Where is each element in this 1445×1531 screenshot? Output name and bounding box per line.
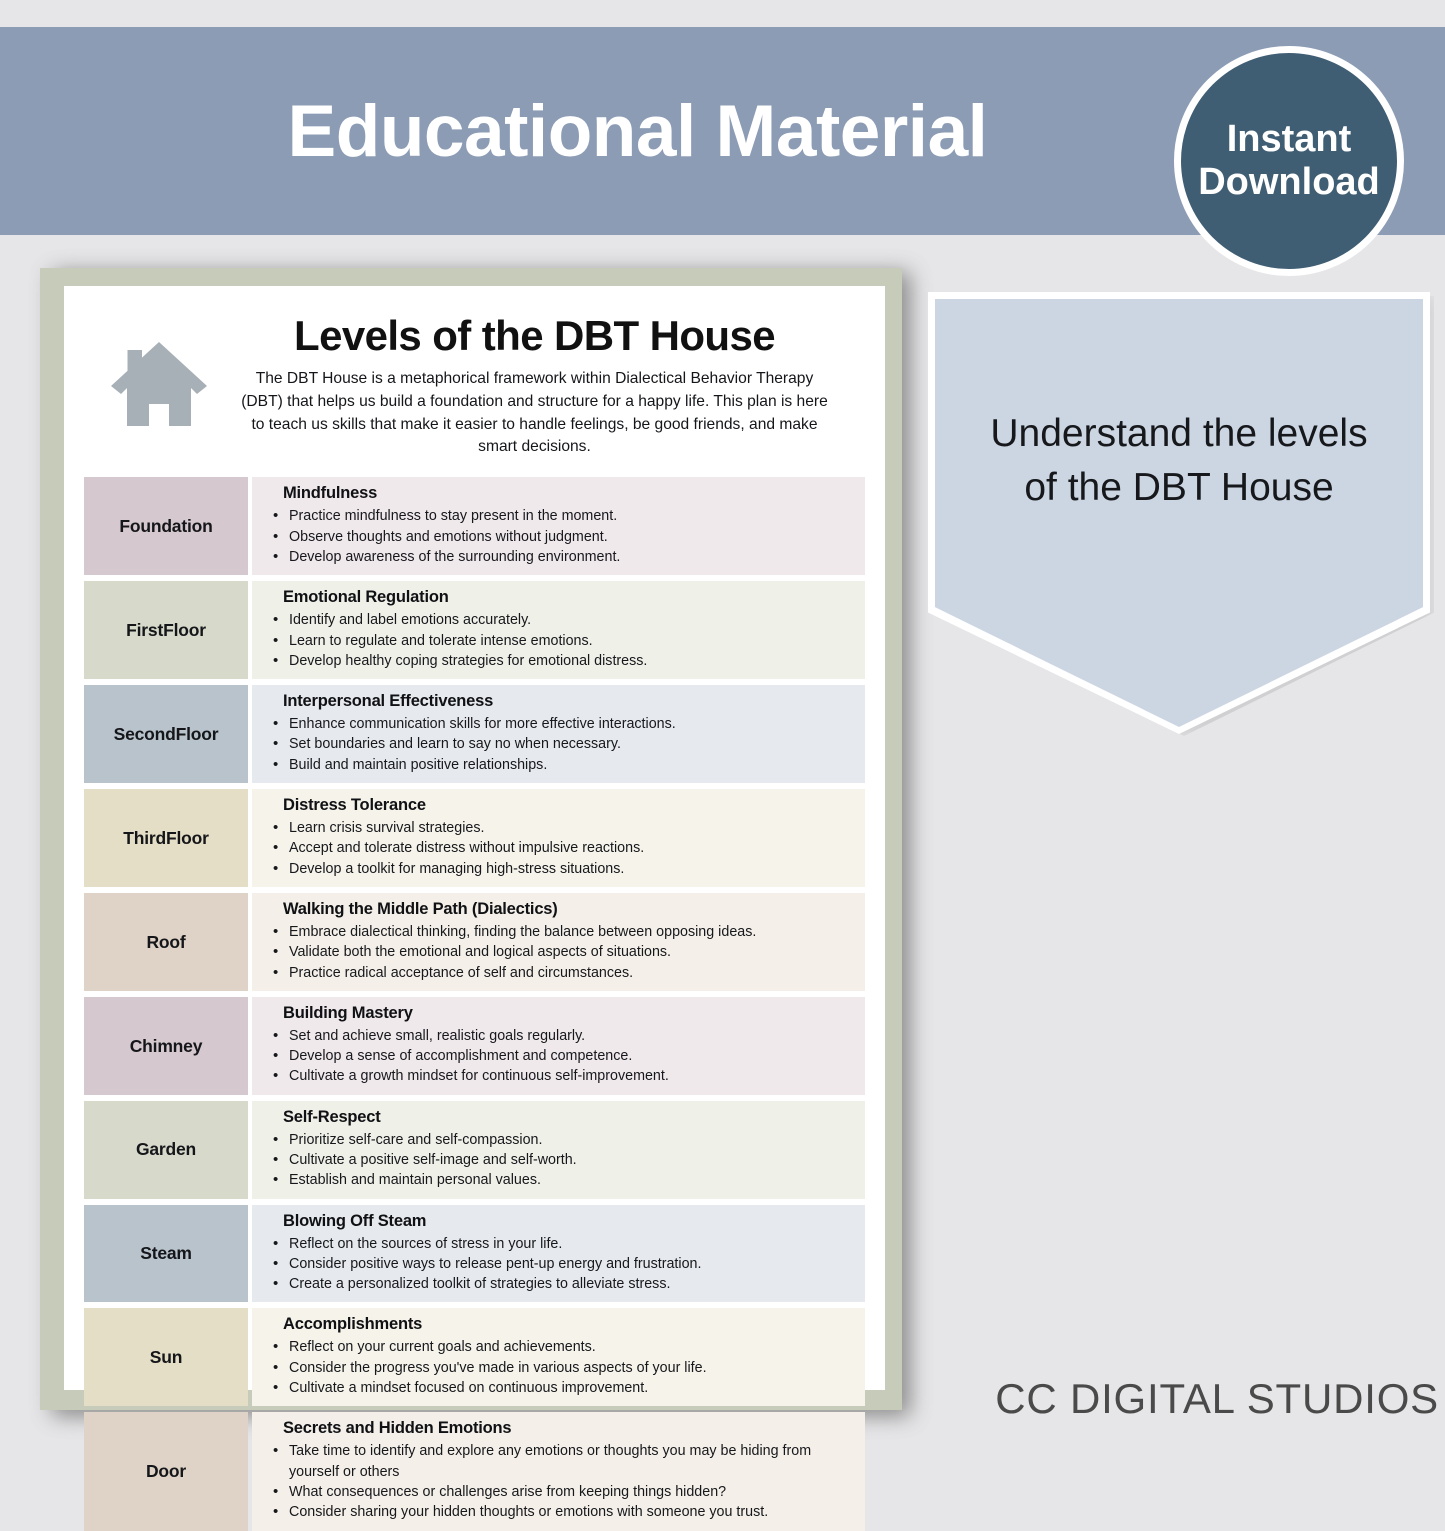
level-label-line: Chimney	[130, 1036, 203, 1056]
instant-download-badge[interactable]: Instant Download	[1174, 46, 1404, 276]
level-bullet-list: Reflect on the sources of stress in your…	[270, 1234, 855, 1295]
level-bullet: Develop a toolkit for managing high-stre…	[270, 859, 855, 879]
level-heading: Self-Respect	[283, 1108, 855, 1127]
level-label: Chimney	[84, 997, 248, 1095]
level-label: Roof	[84, 893, 248, 991]
level-row: SteamBlowing Off SteamReflect on the sou…	[84, 1205, 865, 1303]
level-bullet: Develop healthy coping strategies for em…	[270, 651, 855, 671]
level-bullet: Reflect on the sources of stress in your…	[270, 1234, 855, 1254]
level-label-line: Garden	[136, 1139, 196, 1159]
document-page: Levels of the DBT House The DBT House is…	[64, 286, 885, 1390]
level-bullet: Learn to regulate and tolerate intense e…	[270, 631, 855, 651]
level-bullet: Establish and maintain personal values.	[270, 1170, 855, 1190]
level-label: ThirdFloor	[84, 789, 248, 887]
level-row: ChimneyBuilding MasterySet and achieve s…	[84, 997, 865, 1095]
level-bullet: Set and achieve small, realistic goals r…	[270, 1026, 855, 1046]
level-label-line: Floor	[163, 620, 206, 640]
level-row: ThirdFloorDistress ToleranceLearn crisis…	[84, 789, 865, 887]
level-content: Distress ToleranceLearn crisis survival …	[252, 789, 865, 887]
level-label-line: Roof	[146, 932, 185, 952]
level-bullet: Cultivate a positive self-image and self…	[270, 1150, 855, 1170]
level-bullet: Develop awareness of the surrounding env…	[270, 547, 855, 567]
level-bullet: Validate both the emotional and logical …	[270, 942, 855, 962]
level-bullet: Accept and tolerate distress without imp…	[270, 838, 855, 858]
level-label-line: Door	[146, 1461, 186, 1481]
level-content: Self-RespectPrioritize self-care and sel…	[252, 1101, 865, 1199]
level-row: DoorSecrets and Hidden EmotionsTake time…	[84, 1412, 865, 1530]
intro-paragraph: The DBT House is a metaphorical framewor…	[234, 368, 835, 460]
level-label-line: Foundation	[119, 516, 212, 536]
level-bullet: Consider positive ways to release pent-u…	[270, 1254, 855, 1274]
level-content: Building MasterySet and achieve small, r…	[252, 997, 865, 1095]
level-bullet: Develop a sense of accomplishment and co…	[270, 1046, 855, 1066]
document-header: Levels of the DBT House The DBT House is…	[84, 308, 865, 471]
level-label: FirstFloor	[84, 581, 248, 679]
level-bullet-list: Take time to identify and explore any em…	[270, 1441, 855, 1522]
level-heading: Walking the Middle Path (Dialectics)	[283, 900, 855, 919]
level-label-line: Second	[114, 724, 176, 744]
level-heading: Building Mastery	[283, 1004, 855, 1023]
level-content: Blowing Off SteamReflect on the sources …	[252, 1205, 865, 1303]
level-heading: Distress Tolerance	[283, 796, 855, 815]
level-heading: Mindfulness	[283, 484, 855, 503]
ribbon-text: Understand the levels of the DBT House	[975, 407, 1383, 515]
level-bullet-list: Prioritize self-care and self-compassion…	[270, 1130, 855, 1191]
level-row: FirstFloorEmotional RegulationIdentify a…	[84, 581, 865, 679]
level-content: Walking the Middle Path (Dialectics)Embr…	[252, 893, 865, 991]
document-sheet: Levels of the DBT House The DBT House is…	[40, 268, 902, 1410]
ribbon-inner: Understand the levels of the DBT House	[935, 299, 1423, 727]
level-content: Emotional RegulationIdentify and label e…	[252, 581, 865, 679]
level-label: SecondFloor	[84, 685, 248, 783]
level-label: Steam	[84, 1205, 248, 1303]
level-label-line: First	[126, 620, 163, 640]
level-bullet-list: Set and achieve small, realistic goals r…	[270, 1026, 855, 1087]
level-bullet: Create a personalized toolkit of strateg…	[270, 1274, 855, 1294]
level-bullet: Consider sharing your hidden thoughts or…	[270, 1502, 855, 1522]
level-label-line: Sun	[150, 1347, 182, 1367]
level-row: SecondFloorInterpersonal EffectivenessEn…	[84, 685, 865, 783]
level-bullet-list: Learn crisis survival strategies.Accept …	[270, 818, 855, 879]
level-bullet: Take time to identify and explore any em…	[270, 1441, 855, 1482]
level-bullet: Learn crisis survival strategies.	[270, 818, 855, 838]
house-icon	[84, 314, 234, 432]
level-row: GardenSelf-RespectPrioritize self-care a…	[84, 1101, 865, 1199]
level-content: Secrets and Hidden EmotionsTake time to …	[252, 1412, 865, 1530]
level-bullet: Prioritize self-care and self-compassion…	[270, 1130, 855, 1150]
level-bullet: Build and maintain positive relationship…	[270, 755, 855, 775]
levels-table: FoundationMindfulnessPractice mindfulnes…	[84, 477, 865, 1530]
level-bullet: Reflect on your current goals and achiev…	[270, 1337, 855, 1357]
level-bullet-list: Embrace dialectical thinking, finding th…	[270, 922, 855, 983]
watermark-brand: CC DIGITAL STUDIOS	[0, 1375, 1439, 1423]
level-row: RoofWalking the Middle Path (Dialectics)…	[84, 893, 865, 991]
level-label-line: Floor	[176, 724, 219, 744]
level-bullet-list: Enhance communication skills for more ef…	[270, 714, 855, 775]
level-heading: Blowing Off Steam	[283, 1212, 855, 1231]
level-label: Garden	[84, 1101, 248, 1199]
level-bullet-list: Practice mindfulness to stay present in …	[270, 506, 855, 567]
level-content: MindfulnessPractice mindfulness to stay …	[252, 477, 865, 575]
document-header-text: Levels of the DBT House The DBT House is…	[234, 314, 865, 459]
level-bullet-list: Identify and label emotions accurately.L…	[270, 610, 855, 671]
page-title: Levels of the DBT House	[234, 314, 835, 358]
level-bullet: Set boundaries and learn to say no when …	[270, 734, 855, 754]
level-bullet: Enhance communication skills for more ef…	[270, 714, 855, 734]
level-heading: Interpersonal Effectiveness	[283, 692, 855, 711]
level-label: Door	[84, 1412, 248, 1530]
level-row: FoundationMindfulnessPractice mindfulnes…	[84, 477, 865, 575]
level-label-line: Floor	[166, 828, 209, 848]
level-bullet: Cultivate a growth mindset for continuou…	[270, 1066, 855, 1086]
badge-line-2: Download	[1198, 161, 1380, 204]
level-label: Foundation	[84, 477, 248, 575]
level-bullet: Practice radical acceptance of self and …	[270, 963, 855, 983]
level-label-line: Third	[123, 828, 166, 848]
level-content: Interpersonal EffectivenessEnhance commu…	[252, 685, 865, 783]
ribbon-banner: Understand the levels of the DBT House	[928, 292, 1430, 734]
level-label-line: Steam	[140, 1243, 192, 1263]
level-heading: Emotional Regulation	[283, 588, 855, 607]
badge-line-1: Instant	[1227, 118, 1352, 161]
level-bullet: Practice mindfulness to stay present in …	[270, 506, 855, 526]
level-bullet: Embrace dialectical thinking, finding th…	[270, 922, 855, 942]
level-bullet: What consequences or challenges arise fr…	[270, 1482, 855, 1502]
level-bullet: Identify and label emotions accurately.	[270, 610, 855, 630]
level-bullet: Observe thoughts and emotions without ju…	[270, 527, 855, 547]
level-heading: Accomplishments	[283, 1315, 855, 1334]
